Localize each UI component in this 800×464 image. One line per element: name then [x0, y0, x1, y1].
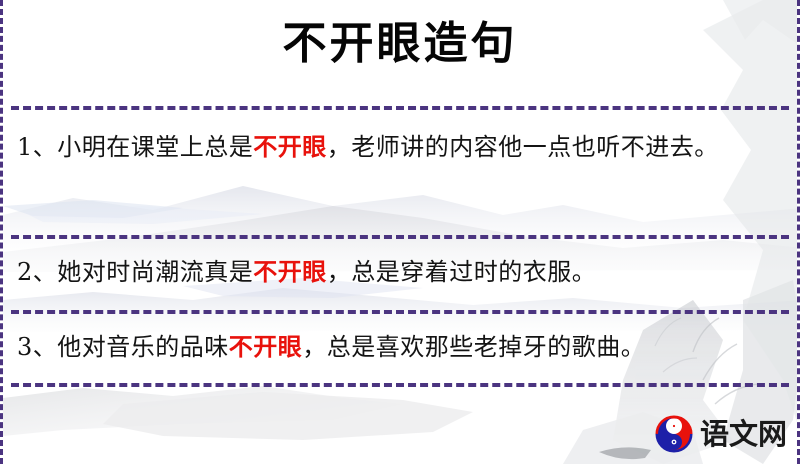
keyword-highlight-2: 不开眼	[253, 257, 327, 286]
sentence-text-before-3: 他对音乐的品味	[57, 333, 229, 361]
sentence-text-after-3: ，总是喜欢那些老掉牙的歌曲。	[302, 333, 645, 361]
divider-top	[11, 106, 789, 110]
sentence-text-after-2: ，总是穿着过时的衣服。	[327, 258, 597, 286]
yinyang-circle-icon	[654, 414, 694, 454]
sentence-text-after-1: ，老师讲的内容他一点也听不进去。	[327, 133, 719, 161]
keyword-highlight-1: 不开眼	[253, 132, 327, 161]
sentence-text-before-1: 小明在课堂上总是	[57, 133, 253, 161]
divider-bottom	[11, 383, 789, 387]
sentence-index-3: 3、	[17, 333, 57, 361]
sentence-item-1: 1、小明在课堂上总是不开眼，老师讲的内容他一点也听不进去。	[17, 128, 783, 166]
divider-2	[11, 310, 789, 314]
divider-1	[11, 235, 789, 239]
page-title: 不开眼造句	[3, 22, 797, 66]
sentence-index-1: 1、	[17, 133, 57, 161]
worksheet-content: 不开眼造句 1、小明在课堂上总是不开眼，老师讲的内容他一点也听不进去。 2、她对…	[3, 0, 797, 464]
sentence-text-before-2: 她对时尚潮流真是	[57, 258, 253, 286]
keyword-highlight-3: 不开眼	[229, 332, 303, 361]
site-logo[interactable]: 语文网	[654, 414, 787, 454]
sentence-index-2: 2、	[17, 258, 57, 286]
site-logo-text: 语文网	[700, 420, 787, 449]
sentence-item-2: 2、她对时尚潮流真是不开眼，总是穿着过时的衣服。	[17, 253, 783, 291]
sentence-item-3: 3、他对音乐的品味不开眼，总是喜欢那些老掉牙的歌曲。	[17, 328, 783, 366]
page-root: 不开眼造句 1、小明在课堂上总是不开眼，老师讲的内容他一点也听不进去。 2、她对…	[0, 0, 800, 464]
